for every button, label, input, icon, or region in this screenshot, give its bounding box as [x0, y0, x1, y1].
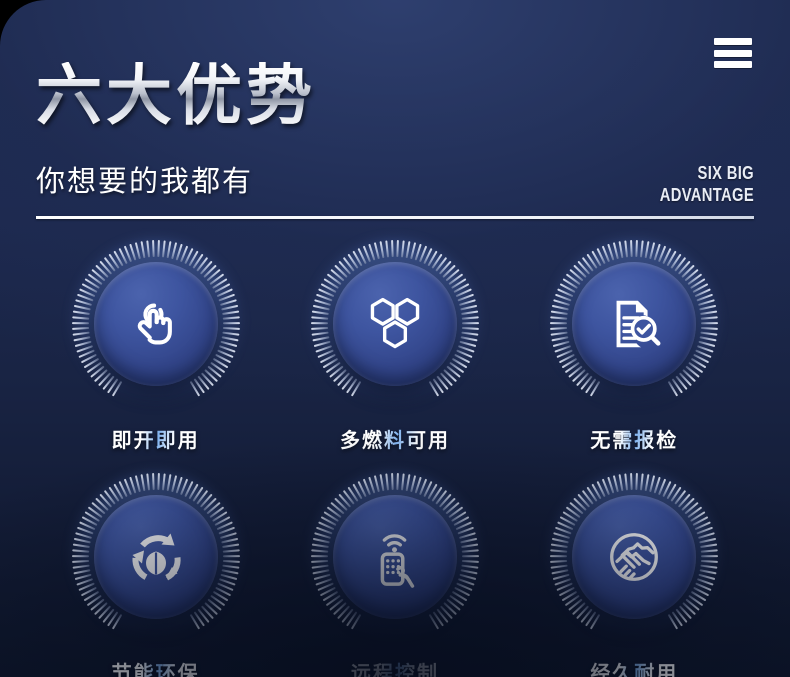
- feature-label: 无需报检: [590, 424, 678, 453]
- feature-label: 节能环保: [112, 657, 200, 677]
- remote-control-hand-icon: [364, 526, 426, 588]
- dial-disc: [572, 495, 696, 619]
- english-title: SIX BIG ADVANTAGE: [574, 163, 754, 207]
- page-title: 六大优势: [36, 62, 316, 128]
- handshake-globe-icon: [603, 526, 665, 588]
- feature-dial: [309, 471, 481, 643]
- hamburger-bar: [714, 38, 752, 45]
- advantage-section: 六大优势 你想要的我都有 SIX BIG ADVANTAGE: [0, 0, 790, 677]
- feature-label: 经久耐用: [590, 657, 678, 677]
- english-title-line2: ADVANTAGE: [574, 185, 754, 207]
- hamburger-bar: [714, 50, 752, 57]
- feature-label: 多燃料可用: [340, 424, 450, 453]
- feature-dial: [309, 238, 481, 410]
- document-magnifier-check-icon: [603, 293, 665, 355]
- feature-label: 即开即用: [112, 424, 200, 453]
- header-divider: [36, 216, 754, 219]
- dial-disc: [333, 262, 457, 386]
- feature-label: 远程控制: [351, 657, 439, 677]
- feature-item[interactable]: 远程控制: [275, 471, 514, 677]
- feature-item[interactable]: 即开即用: [36, 238, 275, 453]
- page-subtitle: 你想要的我都有: [36, 158, 253, 200]
- tap-hand-icon: [125, 293, 187, 355]
- english-title-line1: SIX BIG: [574, 163, 754, 185]
- feature-dial: [548, 238, 720, 410]
- feature-dial: [70, 471, 242, 643]
- dial-disc: [333, 495, 457, 619]
- feature-dial: [70, 238, 242, 410]
- recycle-leaf-icon: [124, 525, 188, 589]
- feature-dial: [548, 471, 720, 643]
- dial-disc: [94, 495, 218, 619]
- feature-item[interactable]: 多燃料可用: [275, 238, 514, 453]
- feature-item[interactable]: 节能环保: [36, 471, 275, 677]
- feature-grid: 即开即用 多燃料可用: [36, 238, 754, 677]
- feature-item[interactable]: 无需报检: [515, 238, 754, 453]
- hamburger-bar: [714, 61, 752, 68]
- dial-disc: [572, 262, 696, 386]
- feature-item[interactable]: 经久耐用: [515, 471, 754, 677]
- hamburger-menu-icon[interactable]: [714, 38, 752, 68]
- dial-disc: [94, 262, 218, 386]
- honeycomb-hexagons-icon: [364, 295, 426, 353]
